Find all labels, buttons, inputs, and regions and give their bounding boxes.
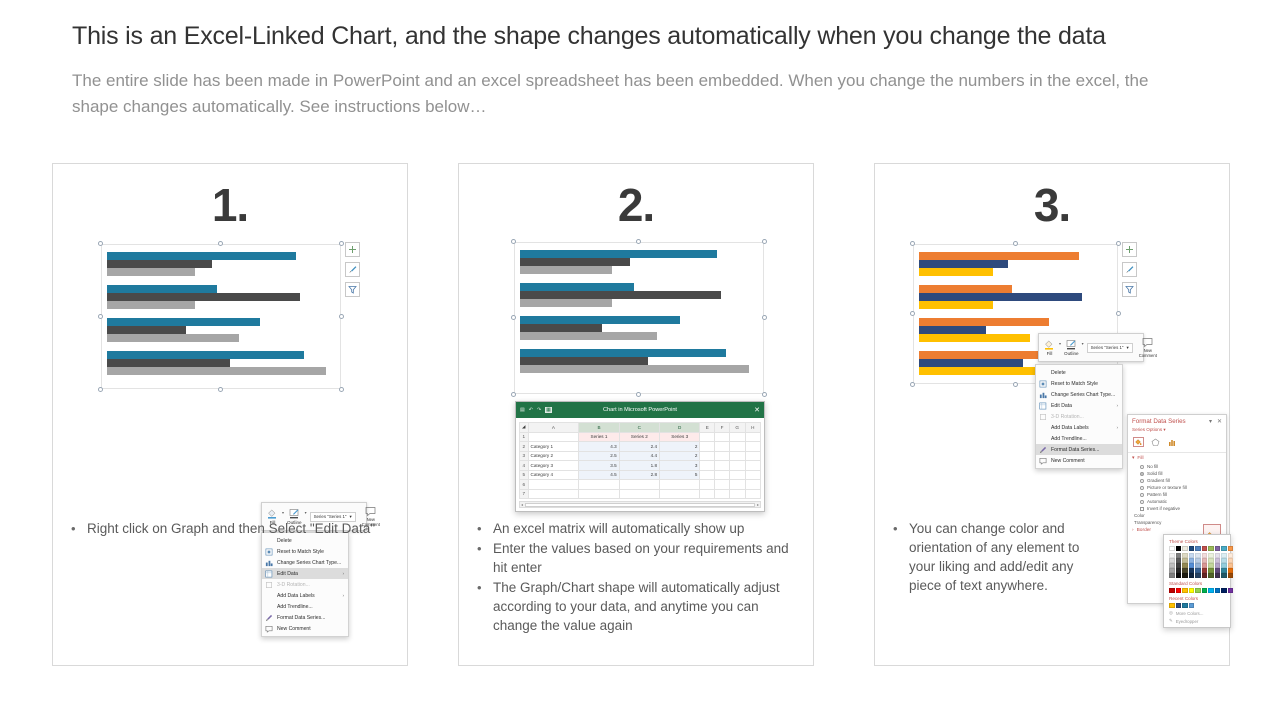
resize-handle-top-center[interactable]	[636, 239, 641, 244]
color-swatch[interactable]	[1189, 573, 1195, 578]
chart-styles-brush-icon[interactable]	[1122, 262, 1137, 277]
fill-option-label: Pattern fill	[1147, 492, 1167, 497]
excel-cell[interactable]	[729, 461, 745, 471]
chart-bar[interactable]	[107, 351, 304, 359]
chart-side-buttons-1	[345, 242, 361, 302]
color-option-row[interactable]: Color	[1128, 512, 1226, 519]
color-swatch[interactable]	[1176, 573, 1182, 578]
outline-pen-icon	[1065, 339, 1078, 350]
outline-button-3[interactable]: Outline	[1064, 339, 1079, 356]
chart-filters-funnel-icon[interactable]	[1122, 282, 1137, 297]
bullet-list: •Right click on Graph and then Select "E…	[63, 519, 399, 538]
excel-cell[interactable]	[579, 480, 619, 490]
chart-object-3[interactable]	[913, 244, 1118, 384]
excel-cell[interactable]: Category 2	[528, 451, 579, 461]
excel-cell[interactable]	[715, 432, 729, 442]
theme-shades-grid[interactable]	[1167, 553, 1227, 578]
excel-column-header-row: ◢ABCDEFGH	[520, 423, 761, 433]
context-menu-item[interactable]: Reset to Match Style	[1036, 378, 1122, 389]
excel-column-header[interactable]: B	[579, 423, 619, 433]
chevron-down-icon[interactable]: ▾	[1163, 427, 1165, 432]
resize-handle-bottom-left[interactable]	[98, 387, 103, 392]
chart-bar[interactable]	[520, 349, 726, 357]
color-swatch[interactable]	[1176, 546, 1182, 551]
fill-option[interactable]: No fill	[1128, 463, 1226, 470]
excel-cell[interactable]	[715, 480, 729, 490]
eyedropper-button[interactable]: ✎ Eyedropper	[1167, 616, 1227, 624]
excel-cell[interactable]	[619, 480, 659, 490]
list-item-text: An excel matrix will automatically show …	[493, 521, 744, 536]
resize-handle-middle-left[interactable]	[910, 311, 915, 316]
color-swatch[interactable]	[1169, 588, 1175, 593]
excel-cell[interactable]: 2	[660, 451, 700, 461]
chart-object-1[interactable]	[101, 244, 341, 389]
color-swatch[interactable]	[1228, 546, 1234, 551]
excel-row-header[interactable]: 1	[520, 432, 529, 442]
fill-label-3: Fill	[1047, 351, 1053, 356]
fill-option[interactable]: Solid fill	[1128, 470, 1226, 477]
chart-bar[interactable]	[919, 334, 1030, 342]
resize-handle-top-left[interactable]	[910, 241, 915, 246]
excel-row-header[interactable]: 7	[520, 489, 529, 499]
color-swatch[interactable]	[1182, 588, 1188, 593]
table-row: 3Category 22.54.42	[520, 451, 761, 461]
excel-cell[interactable]	[745, 489, 760, 499]
radio-icon[interactable]	[1140, 500, 1144, 504]
resize-handle-top-center[interactable]	[1013, 241, 1018, 246]
edit-data-icon	[1039, 402, 1047, 410]
fill-options-list[interactable]: No fillSolid fillGradient fillPicture or…	[1128, 463, 1226, 505]
excel-cell[interactable]: Category 1	[528, 442, 579, 452]
excel-column-header[interactable]: C	[619, 423, 659, 433]
chart-object-2[interactable]	[514, 242, 764, 394]
color-swatch[interactable]	[1169, 573, 1175, 578]
excel-cell[interactable]	[528, 432, 579, 442]
fill-section-header[interactable]: ▾ Fill	[1128, 454, 1226, 463]
chart-category-group	[520, 316, 758, 340]
page-title: This is an Excel-Linked Chart, and the s…	[72, 22, 1212, 51]
chart-bar[interactable]	[520, 258, 630, 266]
chart-side-buttons-3	[1122, 242, 1138, 302]
save-icon[interactable]: ▤	[520, 407, 525, 413]
resize-handle-bottom-left[interactable]	[910, 382, 915, 387]
resize-handle-top-right[interactable]	[762, 239, 767, 244]
fill-option[interactable]: Automatic	[1128, 498, 1226, 505]
close-icon[interactable]: ✕	[1217, 418, 1222, 425]
color-swatch[interactable]	[1228, 588, 1234, 593]
color-swatch[interactable]	[1189, 588, 1195, 593]
more-colors-label: More Colors...	[1176, 611, 1204, 616]
context-menu-item-label: Add Trendline...	[1051, 436, 1118, 442]
excel-cell[interactable]	[528, 480, 579, 490]
excel-column-header[interactable]: F	[715, 423, 729, 433]
excel-cell[interactable]: 2	[660, 442, 700, 452]
format-pane-tabs[interactable]	[1128, 435, 1226, 451]
chart-bar[interactable]	[520, 283, 634, 291]
chart-bar[interactable]	[107, 268, 195, 276]
scroll-right-arrow-icon[interactable]: ▸	[757, 502, 759, 507]
context-menu-item[interactable]: Change Series Chart Type...	[1036, 389, 1122, 400]
excel-row-header[interactable]: 4	[520, 461, 529, 471]
excel-embedded-window[interactable]: ▤ ↶ ↷ ▦ Chart in Microsoft PowerPoint ✕ …	[515, 401, 765, 512]
chart-bar[interactable]	[107, 301, 195, 309]
color-swatch[interactable]	[1215, 588, 1221, 593]
color-swatch[interactable]	[1202, 573, 1208, 578]
chart-elements-plus-icon[interactable]	[345, 242, 360, 257]
excel-cell[interactable]	[700, 480, 715, 490]
context-menu-item[interactable]: Add Trendline...	[1036, 433, 1122, 444]
chart-category-group	[107, 318, 335, 342]
fill-option-label: Solid fill	[1147, 471, 1163, 476]
chart-bar[interactable]	[919, 293, 1082, 301]
recent-color-swatch[interactable]	[1176, 603, 1182, 608]
excel-cell[interactable]: 2.8	[619, 470, 659, 480]
series-options-chart-icon[interactable]	[1167, 437, 1178, 447]
series-selector-3[interactable]: Series "Series 1" ▾	[1087, 343, 1133, 353]
excel-cell[interactable]	[715, 461, 729, 471]
chart-category-gap	[107, 309, 335, 318]
chart-bar[interactable]	[919, 301, 993, 309]
context-menu-item[interactable]: Edit Data›	[1036, 400, 1122, 411]
chart-category-gap	[107, 276, 335, 285]
context-menu-item[interactable]: Add Data Labels›	[1036, 422, 1122, 433]
excel-cell[interactable]	[715, 470, 729, 480]
list-item: •An excel matrix will automatically show…	[469, 519, 805, 538]
menu-item-icon-blank	[1039, 424, 1047, 432]
excel-cell[interactable]	[660, 489, 700, 499]
excel-cell[interactable]	[660, 480, 700, 490]
excel-row-header[interactable]: 6	[520, 480, 529, 490]
transparency-label: Transparency	[1134, 520, 1161, 525]
color-swatch[interactable]	[1195, 573, 1201, 578]
chart-bar[interactable]	[520, 316, 680, 324]
excel-cell[interactable]: Series 3	[660, 432, 700, 442]
theme-shade-row[interactable]	[1169, 573, 1225, 578]
chart-category-gap	[520, 307, 758, 316]
chart-bar[interactable]	[919, 326, 986, 334]
chart-bar[interactable]	[107, 367, 326, 375]
excel-cell[interactable]: 3.5	[579, 461, 619, 471]
fill-button-3[interactable]: Fill	[1043, 339, 1056, 356]
step-panel-3: 3. Fill ▾	[874, 163, 1230, 666]
recent-colors-label: Recent Colors	[1169, 596, 1225, 601]
color-swatch[interactable]	[1195, 546, 1201, 551]
resize-handle-middle-left[interactable]	[98, 314, 103, 319]
color-swatch[interactable]	[1182, 546, 1188, 551]
undo-icon[interactable]: ↶	[529, 407, 533, 413]
radio-icon[interactable]	[1140, 465, 1144, 469]
resize-handle-bottom-right[interactable]	[339, 387, 344, 392]
table-row: 4Category 33.51.83	[520, 461, 761, 471]
excel-cell[interactable]: 4.3	[579, 442, 619, 452]
reset-style-icon	[1039, 380, 1047, 388]
excel-cell[interactable]	[715, 489, 729, 499]
menu-item-icon-blank	[1039, 435, 1047, 443]
excel-grid[interactable]: ◢ABCDEFGH1Series 1Series 2Series 32Categ…	[519, 422, 761, 499]
series-options-label: Series Options	[1132, 427, 1162, 432]
excel-cell[interactable]	[745, 442, 760, 452]
radio-icon[interactable]	[1140, 472, 1144, 476]
color-swatch[interactable]	[1221, 588, 1227, 593]
chart-category-group	[520, 349, 758, 373]
excel-row-header[interactable]: 3	[520, 451, 529, 461]
excel-cell[interactable]	[619, 489, 659, 499]
excel-cell[interactable]	[700, 489, 715, 499]
standard-colors-label: Standard Colors	[1169, 581, 1225, 586]
excel-cell[interactable]	[700, 461, 715, 471]
resize-handle-bottom-left[interactable]	[511, 392, 516, 397]
chart-filters-funnel-icon[interactable]	[345, 282, 360, 297]
chart-category-group	[107, 285, 335, 309]
resize-handle-top-right[interactable]	[339, 241, 344, 246]
table-row: 5Category 44.52.85	[520, 470, 761, 480]
recent-color-swatch[interactable]	[1169, 603, 1175, 608]
color-swatch[interactable]	[1176, 588, 1182, 593]
table-row: 1Series 1Series 2Series 3	[520, 432, 761, 442]
chart-bar[interactable]	[919, 268, 993, 276]
fill-option[interactable]: Pattern fill	[1128, 491, 1226, 498]
context-menu-item-label: 3-D Rotation...	[1051, 414, 1118, 420]
color-swatch[interactable]	[1208, 573, 1214, 578]
step-number-1: 1.	[53, 178, 407, 232]
chart-bar[interactable]	[520, 291, 721, 299]
format-pane-title: Format Data Series	[1132, 418, 1186, 425]
color-swatch[interactable]	[1182, 573, 1188, 578]
outline-caret-icon-3[interactable]: ▾	[1082, 341, 1084, 346]
bullet-dot-icon: •	[477, 519, 482, 538]
fill-option[interactable]: Picture or texture fill	[1128, 484, 1226, 491]
color-swatch[interactable]	[1202, 588, 1208, 593]
divider	[1128, 452, 1226, 453]
context-menu-item[interactable]: Format Data Series...	[1036, 444, 1122, 455]
context-menu-3[interactable]: DeleteReset to Match StyleChange Series …	[1035, 364, 1123, 469]
theme-colors-grid[interactable]	[1169, 546, 1225, 551]
color-swatch[interactable]	[1208, 588, 1214, 593]
excel-cell[interactable]: Series 2	[619, 432, 659, 442]
excel-cell[interactable]: 4.5	[579, 470, 619, 480]
color-swatch[interactable]	[1189, 546, 1195, 551]
excel-cell[interactable]	[700, 470, 715, 480]
recent-color-swatch[interactable]	[1189, 603, 1195, 608]
close-icon[interactable]: ✕	[754, 407, 760, 414]
excel-cell[interactable]	[528, 489, 579, 499]
chart-bar[interactable]	[107, 285, 217, 293]
chart-styles-brush-icon[interactable]	[345, 262, 360, 277]
excel-cell[interactable]	[700, 432, 715, 442]
excel-cell[interactable]: 2.4	[619, 442, 659, 452]
excel-horizontal-scrollbar[interactable]: ◂ ▸	[519, 501, 761, 508]
chart-bar[interactable]	[919, 260, 1008, 268]
step-number-2: 2.	[459, 178, 813, 232]
chart-bar[interactable]	[520, 299, 612, 307]
more-colors-button[interactable]: ◎ More Colors...	[1167, 608, 1227, 616]
resize-handle-top-right[interactable]	[1116, 241, 1121, 246]
chart-category-group	[520, 283, 758, 307]
chart-bar[interactable]	[107, 252, 296, 260]
excel-cell[interactable]	[715, 451, 729, 461]
fill-caret-icon-1[interactable]: ▾	[282, 510, 284, 515]
chart-bar[interactable]	[520, 250, 717, 258]
color-swatch[interactable]	[1215, 546, 1221, 551]
fill-bucket-icon	[266, 508, 279, 519]
bullet-dot-icon: •	[477, 578, 482, 597]
color-swatch[interactable]	[1169, 546, 1175, 551]
excel-cell[interactable]: Series 1	[579, 432, 619, 442]
excel-cell[interactable]: 4.4	[619, 451, 659, 461]
excel-cell[interactable]	[729, 480, 745, 490]
scrollbar-thumb[interactable]	[525, 503, 755, 507]
chart-bar[interactable]	[919, 252, 1079, 260]
outline-caret-icon-1[interactable]: ▾	[305, 510, 307, 515]
context-menu-item-label: Edit Data	[1051, 403, 1113, 409]
eyedropper-label: Eyedropper	[1176, 619, 1199, 624]
expand-caret-icon[interactable]: ▾	[1132, 456, 1134, 461]
chart-bar[interactable]	[107, 359, 230, 367]
excel-row-header[interactable]: 2	[520, 442, 529, 452]
excel-cell[interactable]	[700, 442, 715, 452]
mini-toolbar-3[interactable]: Fill ▾ Outline ▾ Series "Series 1" ▾ New…	[1038, 333, 1144, 362]
radio-icon[interactable]	[1140, 486, 1144, 490]
excel-cell[interactable]: Category 3	[528, 461, 579, 471]
resize-handle-bottom-center[interactable]	[1013, 382, 1018, 387]
chart-bar[interactable]	[919, 285, 1012, 293]
excel-cell[interactable]	[729, 489, 745, 499]
color-swatch[interactable]	[1208, 546, 1214, 551]
invert-if-negative-option[interactable]: Invert if negative	[1128, 505, 1226, 512]
excel-cell[interactable]	[579, 489, 619, 499]
list-item-text: Enter the values based on your requireme…	[493, 541, 789, 575]
chart-bar[interactable]	[107, 260, 212, 268]
list-item-text: You can change color and orientation of …	[909, 521, 1079, 593]
chart-plot-area-2	[520, 250, 758, 386]
chart-bar[interactable]	[520, 324, 602, 332]
color-swatch[interactable]	[1228, 573, 1234, 578]
resize-handle-top-center[interactable]	[218, 241, 223, 246]
excel-cell[interactable]	[745, 451, 760, 461]
redo-icon[interactable]: ↷	[537, 407, 541, 413]
outline-label-3: Outline	[1064, 351, 1079, 356]
color-swatch[interactable]	[1221, 573, 1227, 578]
excel-column-header[interactable]: G	[729, 423, 745, 433]
excel-column-header[interactable]: E	[700, 423, 715, 433]
format-pane-subtitle: Series Options ▾	[1128, 427, 1226, 435]
effects-pentagon-icon[interactable]	[1150, 437, 1161, 447]
context-menu-item-label: Change Series Chart Type...	[1051, 392, 1118, 398]
table-row: 2Category 14.32.42	[520, 442, 761, 452]
excel-cell[interactable]: 1.8	[619, 461, 659, 471]
color-swatch[interactable]	[1202, 546, 1208, 551]
excel-cell[interactable]	[729, 432, 745, 442]
radio-icon[interactable]	[1140, 493, 1144, 497]
new-comment-button-3[interactable]: New Comment	[1139, 337, 1157, 358]
chart-bar[interactable]	[919, 318, 1049, 326]
color-swatch[interactable]	[1221, 546, 1227, 551]
resize-handle-top-left[interactable]	[98, 241, 103, 246]
context-menu-item[interactable]: New Comment	[1036, 455, 1122, 466]
recent-color-swatch[interactable]	[1182, 603, 1188, 608]
excel-cell[interactable]: 2.5	[579, 451, 619, 461]
excel-cell[interactable]	[700, 451, 715, 461]
excel-cell[interactable]	[745, 461, 760, 471]
comment-bubble-icon	[1141, 337, 1154, 348]
excel-cell[interactable]	[729, 451, 745, 461]
excel-cell[interactable]	[729, 442, 745, 452]
color-picker-popup[interactable]: Theme Colors Standard Colors Recent Colo…	[1163, 534, 1231, 628]
bullet-list-1: •Right click on Graph and then Select "E…	[63, 519, 399, 665]
excel-cell[interactable]	[729, 470, 745, 480]
submenu-arrow-icon: ›	[1117, 403, 1119, 408]
context-menu-item[interactable]: Delete	[1036, 367, 1122, 378]
chart-bar[interactable]	[520, 357, 648, 365]
scroll-left-arrow-icon[interactable]: ◂	[521, 502, 523, 507]
excel-cell[interactable]: Category 4	[528, 470, 579, 480]
resize-handle-middle-right[interactable]	[339, 314, 344, 319]
resize-handle-bottom-center[interactable]	[636, 392, 641, 397]
comment-icon	[1039, 457, 1047, 465]
checkbox-icon[interactable]	[1140, 507, 1144, 511]
chart-bar[interactable]	[107, 326, 186, 334]
color-swatch[interactable]	[1195, 588, 1201, 593]
submenu-arrow-icon: ›	[1117, 425, 1119, 430]
color-swatch[interactable]	[1215, 573, 1221, 578]
excel-select-all-corner[interactable]: ◢	[520, 423, 529, 433]
standard-colors-grid[interactable]	[1169, 588, 1225, 593]
resize-handle-top-left[interactable]	[511, 239, 516, 244]
chart-bar[interactable]	[107, 293, 300, 301]
resize-handle-bottom-right[interactable]	[762, 392, 767, 397]
excel-row-header[interactable]: 5	[520, 470, 529, 480]
excel-quick-access-toolbar[interactable]: ▤ ↶ ↷ ▦	[520, 407, 552, 413]
chart-category-group	[919, 285, 1112, 309]
resize-handle-bottom-center[interactable]	[218, 387, 223, 392]
excel-cell[interactable]	[745, 470, 760, 480]
excel-cell[interactable]	[745, 432, 760, 442]
fill-option[interactable]: Gradient fill	[1128, 477, 1226, 484]
chart-bar[interactable]	[520, 332, 657, 340]
excel-cell[interactable]	[745, 480, 760, 490]
chart-elements-plus-icon[interactable]	[1122, 242, 1137, 257]
page-subtitle: The entire slide has been made in PowerP…	[72, 68, 1157, 120]
excel-sheet-body: ◢ABCDEFGH1Series 1Series 2Series 32Categ…	[516, 418, 764, 511]
resize-handle-middle-left[interactable]	[511, 315, 516, 320]
chart-bar[interactable]	[107, 318, 260, 326]
excel-column-header[interactable]: D	[660, 423, 700, 433]
chart-bar[interactable]	[107, 334, 239, 342]
excel-column-header[interactable]: H	[745, 423, 760, 433]
fill-caret-icon-3[interactable]: ▾	[1059, 341, 1061, 346]
bullet-dot-icon: •	[477, 539, 482, 558]
chart-bar[interactable]	[919, 359, 1023, 367]
excel-icon: ▦	[545, 407, 552, 413]
chart-category-group	[919, 252, 1112, 276]
color-label: Color	[1134, 513, 1145, 518]
step-number-3: 3.	[875, 178, 1229, 232]
resize-handle-middle-right[interactable]	[1116, 311, 1121, 316]
context-menu-item-label: Delete	[1051, 370, 1118, 376]
excel-column-header[interactable]: A	[528, 423, 579, 433]
chart-bar[interactable]	[520, 266, 612, 274]
excel-cell[interactable]	[715, 442, 729, 452]
pane-options-icon[interactable]: ▾	[1209, 418, 1212, 425]
excel-cell[interactable]: 3	[660, 461, 700, 471]
expand-caret-icon[interactable]: ›	[1132, 528, 1134, 533]
chart-bar[interactable]	[520, 365, 749, 373]
excel-cell[interactable]: 5	[660, 470, 700, 480]
radio-icon[interactable]	[1140, 479, 1144, 483]
excel-title-bar[interactable]: ▤ ↶ ↷ ▦ Chart in Microsoft PowerPoint ✕	[516, 402, 764, 418]
resize-handle-middle-right[interactable]	[762, 315, 767, 320]
fill-bucket-icon[interactable]	[1133, 437, 1144, 447]
